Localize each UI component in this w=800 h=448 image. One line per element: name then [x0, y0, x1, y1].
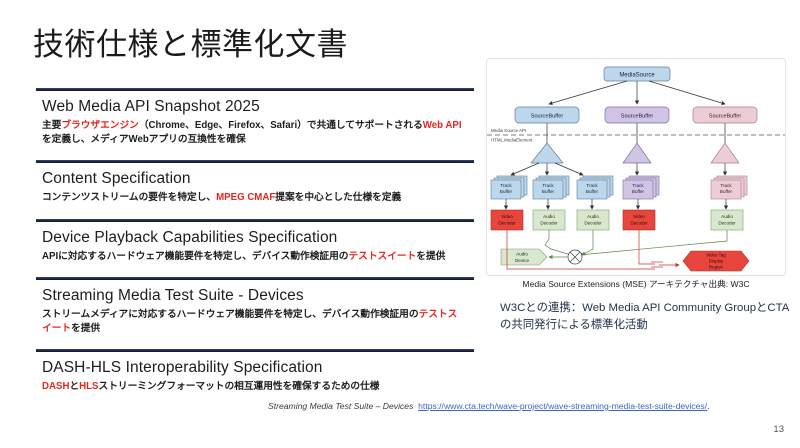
footer-reference-title: Streaming Media Test Suite – Devices: [268, 401, 413, 411]
node-audio-decoder-2: Audio Decoder: [577, 210, 609, 230]
svg-text:Buffer: Buffer: [586, 189, 599, 194]
node-mediasource: MediaSource: [604, 67, 670, 81]
section-divider: [36, 160, 474, 163]
mse-architecture-diagram: MediaSource SourceBuffer SourceBuffer So…: [486, 58, 786, 276]
svg-text:Decoder: Decoder: [540, 221, 558, 226]
svg-text:Buffer: Buffer: [542, 189, 555, 194]
svg-text:Video Tag: Video Tag: [706, 253, 726, 258]
section-divider: [36, 349, 474, 352]
section-body: 主要ブラウザエンジン（Chrome、Edge、Firefox、Safari）で共…: [42, 119, 462, 147]
specification-sections: Web Media API Snapshot 2025主要ブラウザエンジン（Ch…: [36, 82, 474, 401]
svg-text:Display: Display: [709, 259, 724, 264]
body-text: ストリームメディアに対応するハードウェア機能要件を特定し、デバイス動作検証用の: [42, 309, 419, 320]
svg-text:Buffer: Buffer: [632, 189, 645, 194]
node-video-tag-display-region: Video Tag Display Region: [683, 251, 749, 271]
section-heading: Content Specification: [42, 169, 474, 189]
section-heading: Device Playback Capabilities Specificati…: [42, 228, 474, 248]
node-sourcebuffer-2: SourceBuffer: [605, 107, 669, 123]
section-heading: Web Media API Snapshot 2025: [42, 97, 474, 117]
svg-text:Audio: Audio: [516, 252, 528, 257]
section-divider: [36, 88, 474, 91]
node-video-decoder-1: Video Decoder: [491, 210, 523, 230]
footer-reference-period: .: [707, 401, 709, 411]
highlighted-term: ブラウザエンジン: [61, 120, 139, 131]
spec-section: DASH-HLS Interoperability SpecificationD…: [36, 343, 474, 394]
label-html-mediaelement: HTML.MediaElement: [491, 138, 533, 143]
page-number: 13: [773, 424, 784, 435]
svg-text:SourceBuffer: SourceBuffer: [709, 114, 742, 120]
footer-reference-link[interactable]: https://www.cta.tech/wave-project/wave-s…: [418, 401, 707, 411]
body-text: （Chrome、Edge、Firefox、Safari）で共通してサポートされる: [139, 120, 423, 131]
section-body: ストリームメディアに対応するハードウェア機能要件を特定し、デバイス動作検証用のテ…: [42, 308, 462, 336]
svg-text:Decoder: Decoder: [630, 221, 648, 226]
node-audio-device: Audio Device: [501, 249, 547, 265]
section-heading: Streaming Media Test Suite - Devices: [42, 286, 474, 306]
w3c-collaboration-note: W3Cとの連携：Web Media API Community GroupとCT…: [500, 300, 790, 334]
highlighted-term: MPEG CMAF: [216, 192, 275, 203]
svg-text:Region: Region: [709, 265, 723, 270]
node-audio-decoder-1: Audio Decoder: [533, 210, 565, 230]
node-track-buffer-3: Track Buffer: [577, 176, 613, 199]
svg-text:SourceBuffer: SourceBuffer: [621, 114, 654, 120]
node-audio-decoder-3: Audio Decoder: [711, 210, 743, 230]
node-sourcebuffer-3: SourceBuffer: [693, 107, 757, 123]
svg-text:Audio: Audio: [543, 214, 555, 219]
svg-text:Decoder: Decoder: [498, 221, 516, 226]
spec-section: Streaming Media Test Suite - Devicesストリー…: [36, 271, 474, 336]
svg-text:Track: Track: [720, 183, 732, 188]
svg-text:Track: Track: [500, 183, 512, 188]
svg-text:Track: Track: [586, 183, 598, 188]
highlighted-term: テストスイート: [348, 251, 416, 262]
svg-text:Buffer: Buffer: [720, 189, 733, 194]
svg-text:Decoder: Decoder: [718, 221, 736, 226]
highlighted-term: Web API: [423, 120, 462, 131]
body-text: ストリーミングフォーマットの相互運用性を確保するための仕様: [99, 381, 380, 392]
body-text: と: [69, 381, 79, 392]
node-track-buffer-4: Track Buffer: [623, 176, 659, 199]
page-title: 技術仕様と標準化文書: [33, 24, 348, 66]
diagram-caption: Media Source Extensions (MSE) アーキテクチャ出典:…: [486, 278, 786, 290]
body-text: を定義し、メディアWebアプリの互換性を確保: [42, 134, 246, 145]
node-track-buffer-2: Track Buffer: [533, 176, 569, 199]
svg-text:Audio: Audio: [721, 214, 733, 219]
highlighted-term: HLS: [79, 381, 98, 392]
svg-text:Video: Video: [501, 214, 513, 219]
section-heading: DASH-HLS Interoperability Specification: [42, 358, 474, 378]
label-media-source-api: Media Source API: [491, 128, 526, 133]
spec-section: Content Specificationコンテンツストリームの要件を特定し、M…: [36, 154, 474, 205]
node-sourcebuffer-1: SourceBuffer: [515, 107, 579, 123]
svg-text:Video: Video: [633, 214, 645, 219]
body-text: コンテンツストリームの要件を特定し、: [42, 192, 216, 203]
body-text: 主要: [42, 120, 61, 131]
section-divider: [36, 277, 474, 280]
body-text: を提供: [71, 323, 100, 334]
section-body: DASHとHLSストリーミングフォーマットの相互運用性を確保するための仕様: [42, 380, 462, 394]
spec-section: Web Media API Snapshot 2025主要ブラウザエンジン（Ch…: [36, 82, 474, 147]
body-text: APIに対応するハードウェア機能要件を特定し、デバイス動作検証用の: [42, 251, 348, 262]
highlighted-term: DASH: [42, 381, 69, 392]
section-body: APIに対応するハードウェア機能要件を特定し、デバイス動作検証用のテストスイート…: [42, 250, 462, 264]
body-text: を提供: [416, 251, 445, 262]
section-divider: [36, 219, 474, 222]
svg-text:Device: Device: [515, 258, 529, 263]
section-body: コンテンツストリームの要件を特定し、MPEG CMAF提案を中心とした仕様を定義: [42, 191, 462, 205]
node-track-buffer-5: Track Buffer: [711, 176, 747, 199]
svg-text:Track: Track: [632, 183, 644, 188]
svg-text:MediaSource: MediaSource: [619, 73, 655, 79]
mse-diagram-svg: MediaSource SourceBuffer SourceBuffer So…: [487, 59, 786, 276]
svg-text:Decoder: Decoder: [584, 221, 602, 226]
svg-text:Buffer: Buffer: [500, 189, 513, 194]
node-track-buffer-1: Track Buffer: [491, 176, 527, 199]
svg-text:Track: Track: [542, 183, 554, 188]
spec-section: Device Playback Capabilities Specificati…: [36, 213, 474, 264]
svg-text:Audio: Audio: [587, 214, 599, 219]
node-video-decoder-2: Video Decoder: [623, 210, 655, 230]
svg-text:SourceBuffer: SourceBuffer: [531, 114, 564, 120]
body-text: 提案を中心とした仕様を定義: [275, 192, 401, 203]
footer-reference: Streaming Media Test Suite – Devices htt…: [268, 400, 788, 412]
slide-root: 技術仕様と標準化文書 Web Media API Snapshot 2025主要…: [0, 0, 800, 448]
